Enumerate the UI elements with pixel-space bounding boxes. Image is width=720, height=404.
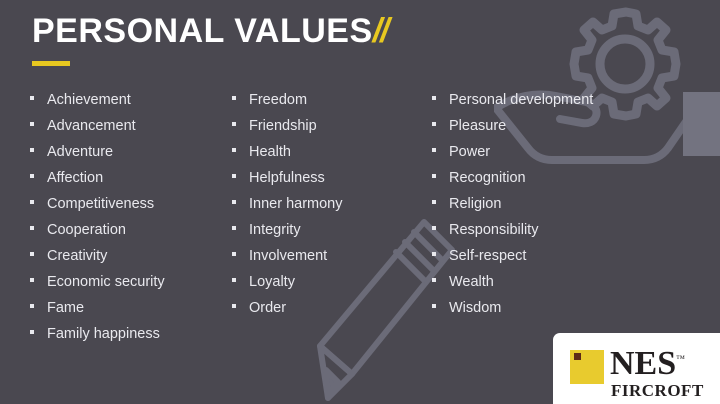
list-item: Order — [232, 300, 432, 326]
list-item: Cooperation — [30, 222, 232, 248]
list-item: Family happiness — [30, 326, 232, 352]
list-item: Wisdom — [432, 300, 720, 326]
list-item: Affection — [30, 170, 232, 196]
list-item-label: Affection — [47, 170, 103, 186]
values-column-1: Achievement Advancement Adventure Affect… — [0, 92, 232, 352]
values-columns: Achievement Advancement Adventure Affect… — [0, 92, 720, 352]
bullet-icon — [232, 278, 236, 282]
list-item-label: Achievement — [47, 92, 131, 108]
bullet-icon — [232, 148, 236, 152]
list-item-label: Inner harmony — [249, 196, 343, 212]
list-item-label: Integrity — [249, 222, 301, 238]
bullet-icon — [232, 174, 236, 178]
list-item-label: Pleasure — [449, 118, 506, 134]
bullet-icon — [232, 96, 236, 100]
list-item: Pleasure — [432, 118, 720, 144]
list-item: Responsibility — [432, 222, 720, 248]
list-item: Freedom — [232, 92, 432, 118]
list-item-label: Competitiveness — [47, 196, 154, 212]
values-column-3: Personal development Pleasure Power Reco… — [432, 92, 720, 352]
bullet-icon — [30, 304, 34, 308]
bullet-icon — [432, 174, 436, 178]
list-item-label: Loyalty — [249, 274, 295, 290]
list-item-label: Recognition — [449, 170, 526, 186]
list-item: Personal development — [432, 92, 720, 118]
list-item: Recognition — [432, 170, 720, 196]
list-item: Health — [232, 144, 432, 170]
list-item: Inner harmony — [232, 196, 432, 222]
list-item-label: Responsibility — [449, 222, 538, 238]
list-item-label: Advancement — [47, 118, 136, 134]
list-item-label: Religion — [449, 196, 501, 212]
list-item: Power — [432, 144, 720, 170]
bullet-icon — [30, 278, 34, 282]
bullet-icon — [232, 200, 236, 204]
bullet-icon — [30, 96, 34, 100]
list-item: Involvement — [232, 248, 432, 274]
list-item-label: Self-respect — [449, 248, 526, 264]
logo-text: NES™ FIRCROFT — [610, 347, 704, 399]
brand-logo: NES™ FIRCROFT — [553, 333, 720, 404]
page-title: PERSONAL VALUES// — [32, 14, 388, 50]
list-item: Friendship — [232, 118, 432, 144]
list-item: Advancement — [30, 118, 232, 144]
logo-inner: NES™ FIRCROFT — [570, 347, 704, 399]
list-item: Achievement — [30, 92, 232, 118]
list-item: Adventure — [30, 144, 232, 170]
bullet-icon — [30, 226, 34, 230]
logo-square-icon — [570, 350, 604, 384]
list-item-label: Wealth — [449, 274, 494, 290]
logo-subtitle: FIRCROFT — [611, 382, 704, 399]
logo-trademark: ™ — [676, 354, 685, 364]
list-item-label: Family happiness — [47, 326, 160, 342]
bullet-icon — [232, 304, 236, 308]
list-item-label: Creativity — [47, 248, 107, 264]
list-item-label: Fame — [47, 300, 84, 316]
list-item-label: Involvement — [249, 248, 327, 264]
bullet-icon — [432, 148, 436, 152]
title-slashes: // — [373, 12, 388, 50]
bullet-icon — [30, 200, 34, 204]
bullet-icon — [432, 278, 436, 282]
list-item-label: Adventure — [47, 144, 113, 160]
list-item: Religion — [432, 196, 720, 222]
bullet-icon — [232, 122, 236, 126]
list-item: Helpfulness — [232, 170, 432, 196]
page-title-text: PERSONAL VALUES — [32, 12, 373, 50]
list-item-label: Power — [449, 144, 490, 160]
list-item-label: Friendship — [249, 118, 317, 134]
bullet-icon — [432, 304, 436, 308]
list-item: Economic security — [30, 274, 232, 300]
bullet-icon — [232, 226, 236, 230]
slide-canvas: PERSONAL VALUES// Achievement Advancemen… — [0, 0, 720, 404]
list-item: Integrity — [232, 222, 432, 248]
bullet-icon — [432, 200, 436, 204]
list-item-label: Helpfulness — [249, 170, 325, 186]
list-item-label: Wisdom — [449, 300, 501, 316]
list-item-label: Freedom — [249, 92, 307, 108]
title-accent-rule — [32, 61, 70, 66]
list-item: Competitiveness — [30, 196, 232, 222]
bullet-icon — [432, 226, 436, 230]
list-item: Self-respect — [432, 248, 720, 274]
values-column-2: Freedom Friendship Health Helpfulness In… — [232, 92, 432, 352]
logo-name: NES™ — [610, 347, 704, 381]
list-item-label: Cooperation — [47, 222, 126, 238]
list-item-label: Personal development — [449, 92, 593, 108]
bullet-icon — [30, 252, 34, 256]
bullet-icon — [30, 148, 34, 152]
list-item: Creativity — [30, 248, 232, 274]
title-block: PERSONAL VALUES// — [32, 14, 388, 66]
bullet-icon — [432, 122, 436, 126]
bullet-icon — [30, 330, 34, 334]
list-item-label: Economic security — [47, 274, 165, 290]
logo-dot-icon — [574, 353, 581, 360]
list-item: Fame — [30, 300, 232, 326]
logo-name-text: NES — [610, 345, 676, 382]
bullet-icon — [432, 252, 436, 256]
bullet-icon — [30, 122, 34, 126]
bullet-icon — [232, 252, 236, 256]
list-item: Wealth — [432, 274, 720, 300]
list-item-label: Health — [249, 144, 291, 160]
list-item: Loyalty — [232, 274, 432, 300]
list-item-label: Order — [249, 300, 286, 316]
bullet-icon — [432, 96, 436, 100]
bullet-icon — [30, 174, 34, 178]
